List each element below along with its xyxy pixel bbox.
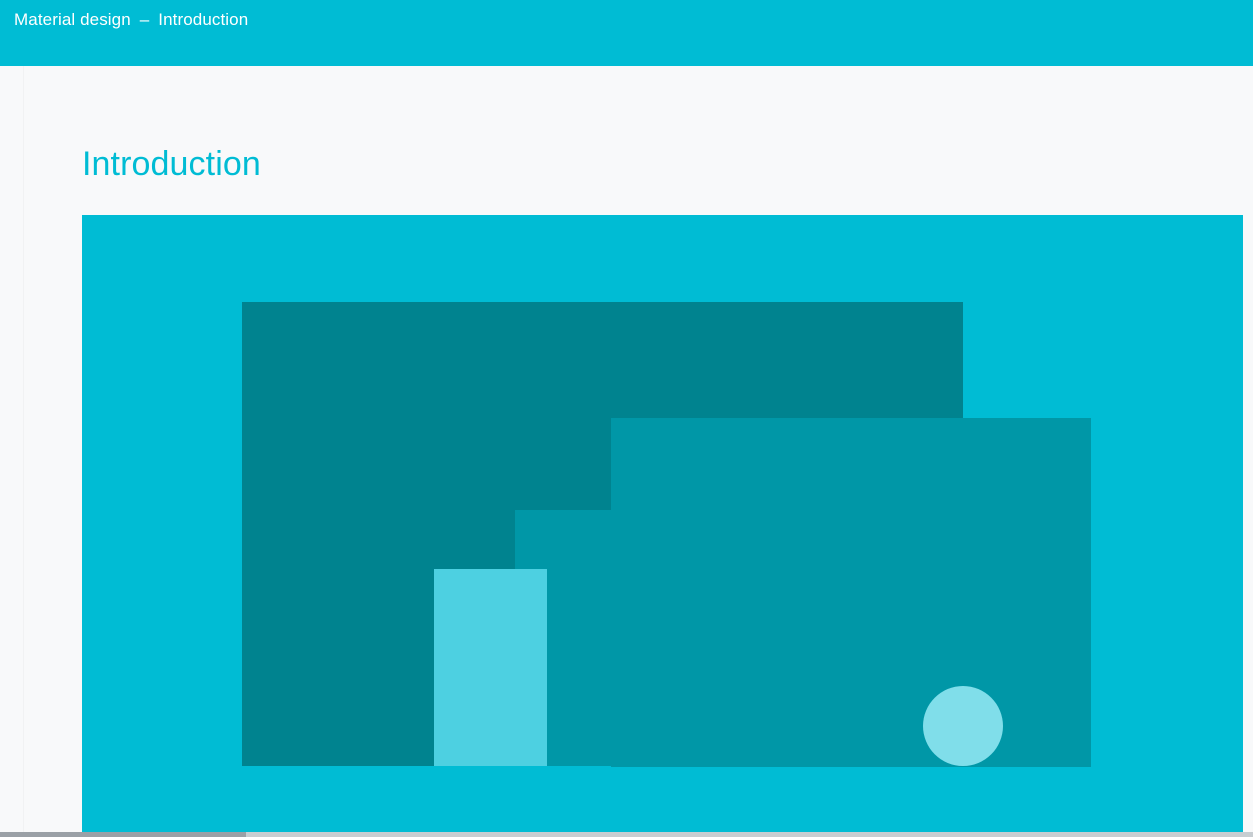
left-gutter-rule bbox=[23, 66, 24, 832]
horizontal-scrollbar-thumb[interactable] bbox=[0, 832, 246, 837]
app-bar-title: Material design bbox=[14, 7, 131, 33]
horizontal-scrollbar[interactable] bbox=[0, 832, 1253, 837]
app-bar-breadcrumb: Material design – Introduction bbox=[14, 0, 248, 40]
app-bar-subtitle: Introduction bbox=[158, 7, 248, 33]
floating-action-circle bbox=[923, 686, 1003, 766]
hero-illustration bbox=[82, 215, 1243, 832]
breadcrumb-separator: – bbox=[131, 7, 158, 33]
app-bar: Material design – Introduction bbox=[0, 0, 1253, 66]
surface-tall-light bbox=[434, 569, 547, 766]
surface-center-medium bbox=[515, 510, 1091, 766]
page-content: Introduction bbox=[0, 66, 1253, 837]
page-title: Introduction bbox=[82, 144, 261, 184]
